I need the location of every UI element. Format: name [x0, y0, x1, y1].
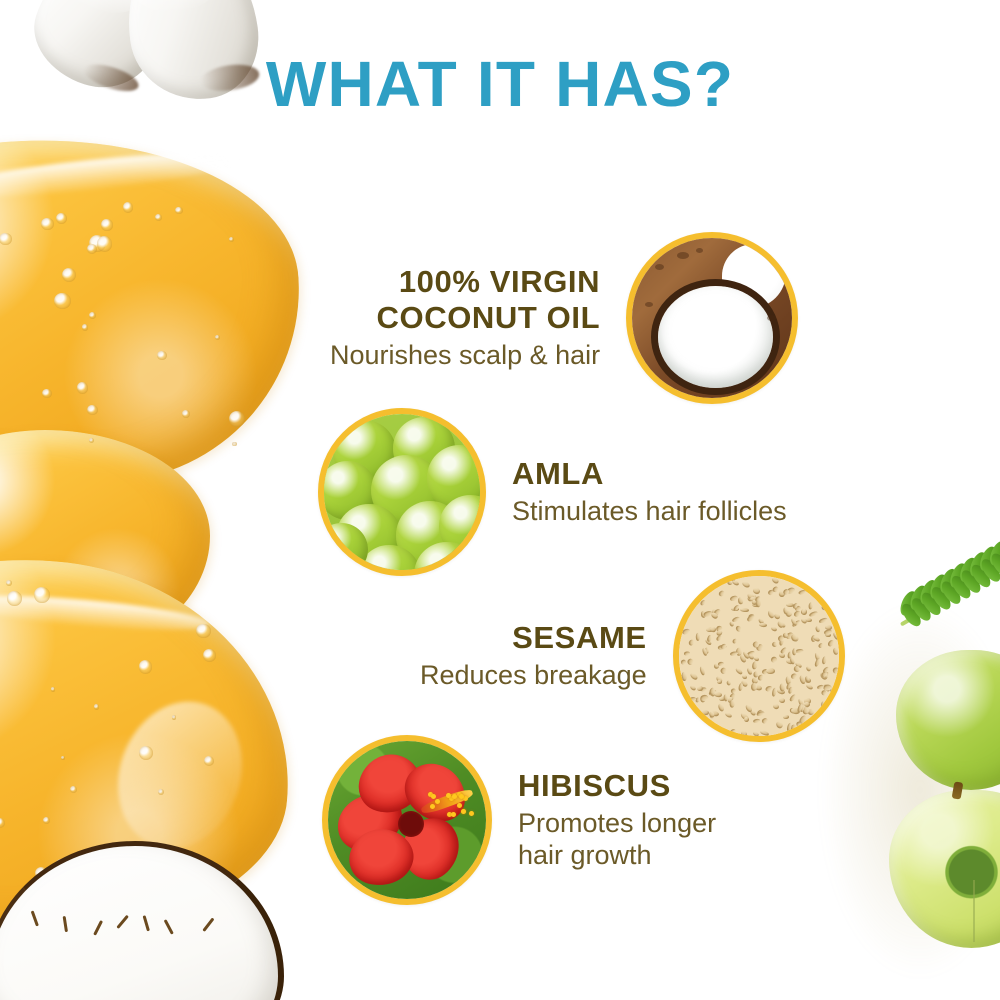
sesame-seed [729, 728, 736, 735]
sesame-seed [772, 641, 779, 648]
ingredient-copy: SESAME Reduces breakage [420, 620, 647, 691]
sesame-seed [683, 652, 689, 656]
ingredient-name: HIBISCUS [518, 768, 716, 804]
oil-bubble [215, 335, 220, 340]
oil-bubble [203, 649, 216, 662]
ingredients-infographic: WHAT IT HAS? 100% VIRGIN COCONUT OIL Nou… [0, 0, 1000, 1000]
sesame-seed [717, 680, 723, 685]
sesame-seed [686, 658, 694, 666]
sesame-seed [775, 721, 784, 730]
sesame-seed [729, 699, 735, 707]
sesame-seed [726, 680, 731, 686]
sesame-seed [689, 685, 696, 692]
ingredient-row-coconut-oil: 100% VIRGIN COCONUT OIL Nourishes scalp … [330, 232, 798, 404]
ingredient-thumbnail-coconut [626, 232, 798, 404]
sesame-seed [821, 605, 828, 612]
oil-bubble [139, 746, 153, 760]
ingredient-row-amla: AMLA Stimulates hair follicles [318, 408, 787, 576]
sesame-seed [687, 599, 695, 608]
sesame-seed [694, 726, 702, 731]
ingredient-copy: HIBISCUS Promotes longer hair growth [518, 768, 716, 872]
sesame-seed [789, 693, 797, 701]
oil-bubble [182, 410, 190, 418]
oil-bubble [89, 312, 96, 319]
ingredient-description: Reduces breakage [420, 659, 647, 691]
sesame-seed [778, 697, 785, 703]
oil-bubble [7, 591, 22, 606]
sesame-seed [718, 590, 726, 597]
ingredient-row-sesame: SESAME Reduces breakage [420, 570, 845, 742]
sesame-seed [819, 588, 824, 595]
oil-bubble [51, 687, 55, 691]
sesame-seed [738, 683, 743, 691]
oil-bubble [43, 817, 50, 824]
sesame-seed [700, 694, 709, 701]
sesame-seed [833, 611, 840, 618]
oil-bubble [232, 442, 237, 447]
page-title: WHAT IT HAS? [0, 52, 1000, 116]
sesame-seed [834, 683, 840, 688]
sesame-seed [787, 576, 794, 582]
sesame-seed [816, 626, 821, 632]
sesame-seed [806, 729, 814, 735]
sesame-seed [740, 607, 749, 612]
sesame-seed [771, 657, 777, 663]
oil-bubble [101, 219, 112, 230]
oil-bubble [229, 411, 246, 428]
oil-bubble [97, 236, 112, 251]
sesame-seed [717, 661, 723, 666]
ingredient-name: SESAME [420, 620, 647, 656]
oil-bubble [34, 587, 50, 603]
sesame-seed [832, 632, 839, 641]
oil-bubble [42, 389, 51, 398]
oil-bubble [172, 715, 176, 719]
sesame-seed [832, 667, 839, 674]
hibiscus-stamen-dot [461, 809, 466, 814]
sesame-seed [696, 633, 700, 641]
sesame-seed [731, 688, 737, 694]
sesame-seed [790, 673, 797, 680]
hibiscus-stamen-dot [435, 799, 440, 804]
sesame-seed [792, 648, 796, 655]
sesame-seed [709, 576, 717, 584]
hibiscus-stamen-dot [457, 803, 462, 808]
oil-bubble [175, 207, 182, 214]
sesame-seed [828, 639, 836, 647]
sesame-seed [726, 580, 732, 586]
sesame-seed [752, 731, 759, 737]
hibiscus-stamen-dot [431, 794, 436, 799]
oil-bubble [123, 202, 133, 212]
sesame-seed [808, 611, 818, 618]
ingredient-name: AMLA [512, 456, 787, 492]
sesame-seed [735, 625, 743, 633]
sesame-seed [682, 671, 687, 680]
ingredient-thumbnail-sesame [673, 570, 845, 742]
sesame-seed [829, 706, 837, 714]
ingredient-description: Stimulates hair follicles [512, 495, 787, 527]
sesame-seed [808, 602, 813, 610]
oil-bubble [87, 405, 97, 415]
sesame-seed [743, 716, 749, 722]
sesame-seed [830, 731, 837, 737]
sesame-seed [805, 665, 811, 672]
sesame-seed [682, 628, 691, 636]
sesame-seed [752, 661, 758, 670]
oil-bubble [229, 237, 234, 242]
sesame-seed [821, 701, 826, 709]
sesame-seed [706, 634, 712, 642]
sesame-seed [719, 667, 727, 675]
ingredient-copy: AMLA Stimulates hair follicles [512, 456, 787, 527]
oil-bubble [87, 244, 97, 254]
ingredient-copy: 100% VIRGIN COCONUT OIL Nourishes scalp … [330, 264, 600, 371]
sesame-seed [772, 577, 780, 585]
sesame-seed [695, 579, 703, 584]
sesame-seed [691, 589, 700, 594]
ingredient-row-hibiscus: HIBISCUS Promotes longer hair growth [322, 735, 716, 905]
sesame-seed [773, 703, 780, 710]
amla-half-seam [973, 880, 975, 942]
sesame-seed [731, 637, 737, 644]
sesame-seed [783, 633, 788, 638]
hibiscus-stamen-dot [459, 794, 464, 799]
sesame-seed [699, 666, 705, 676]
sesame-seed [824, 593, 833, 601]
sesame-seed [718, 697, 724, 701]
sesame-seed [757, 711, 765, 716]
oil-bubble [139, 660, 152, 673]
sesame-seed [773, 613, 781, 621]
oil-bubble [0, 233, 12, 245]
sesame-seed [717, 703, 725, 712]
sesame-seed [815, 711, 821, 717]
sesame-seed [753, 719, 761, 724]
sesame-seed [735, 667, 743, 675]
ingredient-name: 100% VIRGIN COCONUT OIL [330, 264, 600, 336]
hibiscus-stamen-dot [452, 794, 457, 799]
sesame-seed [687, 639, 695, 647]
sesame-seed [783, 607, 788, 615]
ingredient-description: Promotes longer hair growth [518, 807, 716, 872]
sesame-seed [687, 709, 693, 716]
sesame-seed [681, 660, 686, 665]
oil-bubble [6, 580, 12, 586]
sesame-seed [700, 590, 707, 597]
sesame-seed [833, 648, 839, 656]
sesame-seed [762, 717, 770, 724]
sesame-seed [725, 711, 733, 718]
oil-bubble [82, 324, 88, 330]
sesame-seed [836, 624, 842, 632]
sesame-seed [821, 656, 827, 665]
sesame-seed [741, 581, 750, 589]
ingredient-description: Nourishes scalp & hair [330, 339, 600, 371]
sesame-seed [760, 729, 770, 736]
sesame-seed [731, 615, 740, 622]
sesame-seed [738, 597, 744, 604]
sesame-seed [759, 622, 767, 627]
sesame-seed [766, 668, 775, 674]
amla-berry [318, 523, 368, 576]
sesame-seed [783, 715, 789, 719]
sesame-seed [817, 642, 823, 649]
sesame-seed [806, 683, 814, 690]
oil-bubble [62, 268, 76, 282]
oil-bubble [54, 293, 70, 309]
sesame-seed [770, 626, 777, 632]
sesame-seed [818, 616, 828, 623]
ingredient-thumbnail-hibiscus [322, 735, 492, 905]
sesame-seed [690, 672, 699, 681]
sesame-seed [797, 589, 806, 595]
ingredient-thumbnail-amla [318, 408, 486, 576]
sesame-seed [703, 723, 708, 728]
oil-bubble [56, 213, 67, 224]
sesame-seed [786, 603, 794, 607]
oil-bubble [70, 786, 77, 793]
sesame-seed [817, 730, 826, 739]
oil-bubble [94, 704, 99, 709]
hibiscus-stamen-dot [430, 804, 435, 809]
oil-bubble [61, 756, 65, 760]
hibiscus-stamen-dot [469, 811, 474, 816]
sesame-seed [740, 730, 748, 737]
sesame-seed [700, 599, 707, 606]
